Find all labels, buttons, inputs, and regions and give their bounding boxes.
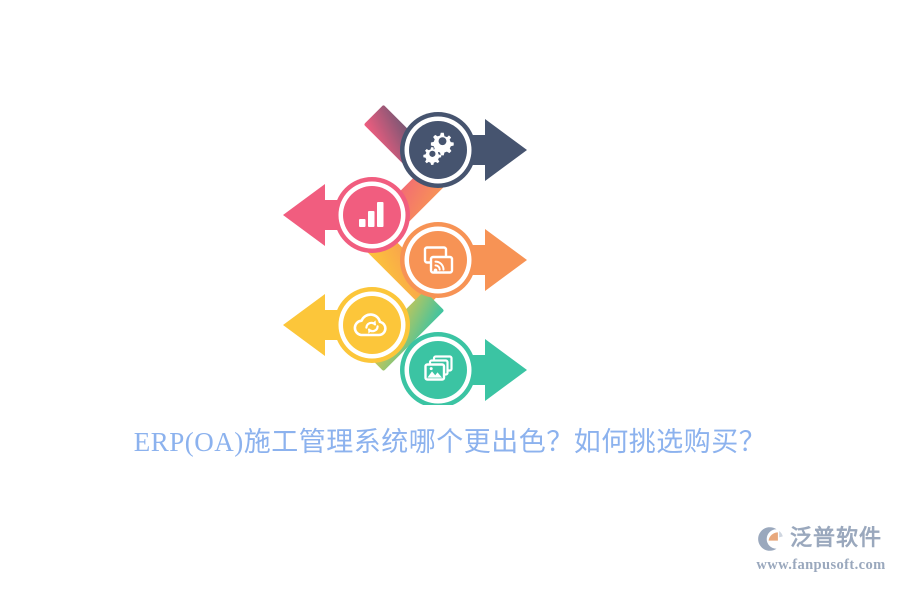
step-gears[interactable] <box>400 112 527 188</box>
page-canvas: ERP(OA)施工管理系统哪个更出色？如何挑选购买？ 泛普软件 www.fanp… <box>0 0 900 600</box>
step-bar-chart[interactable] <box>283 177 410 253</box>
step-photo-gallery[interactable] <box>400 332 527 405</box>
step-disc-yellow <box>343 296 401 354</box>
step-cloud-sync[interactable] <box>283 287 410 363</box>
watermark-brand-row: 泛普软件 <box>756 522 886 556</box>
watermark-logo: 泛普软件 www.fanpusoft.com <box>756 522 886 582</box>
fanpusoft-logo-icon <box>756 524 786 554</box>
step-screen-cast[interactable] <box>400 222 527 298</box>
watermark-brand-text: 泛普软件 <box>790 528 882 550</box>
watermark-url-text: www.fanpusoft.com <box>756 557 886 574</box>
page-title: ERP(OA)施工管理系统哪个更出色？如何挑选购买？ <box>0 420 900 459</box>
zigzag-arrow-infographic <box>255 95 555 405</box>
